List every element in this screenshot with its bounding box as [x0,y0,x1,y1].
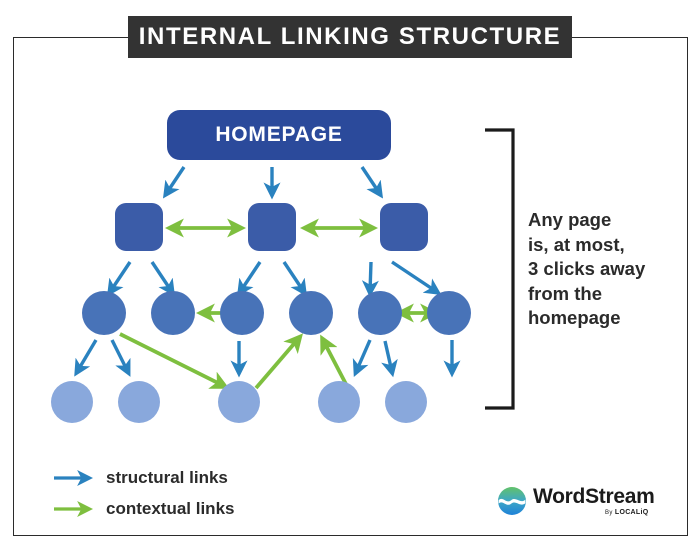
annotation-line-3: 3 clicks away [528,257,678,282]
contextual-arrows-diagonal [120,334,348,388]
legend-label-contextual: contextual links [106,499,234,519]
leaf-node-1[interactable] [51,381,93,423]
legend-label-structural: structural links [106,468,228,488]
brand-parent: By LOCALiQ [605,509,648,516]
arrow-right-icon [52,468,96,488]
legend: structural links contextual links [52,462,234,524]
annotation-line-4: from the [528,282,678,307]
category-node-3[interactable] [380,203,428,251]
subpage-node-6[interactable] [427,291,471,335]
title-banner: INTERNAL LINKING STRUCTURE [128,16,572,58]
arrow-right-icon [52,499,96,519]
structural-arrows-homepage-to-level2 [166,167,380,194]
annotation-line-5: homepage [528,306,678,331]
leaf-node-5[interactable] [385,381,427,423]
brand-name: WordStream [533,486,654,507]
subpage-node-2[interactable] [151,291,195,335]
annotation-bracket [485,130,513,408]
homepage-label: HOMEPAGE [215,123,342,147]
annotation-line-2: is, at most, [528,233,678,258]
subpage-node-5[interactable] [358,291,402,335]
subpage-node-3[interactable] [220,291,264,335]
subpage-node-4[interactable] [289,291,333,335]
legend-item-structural: structural links [52,462,234,493]
wordstream-logo-text: WordStream By LOCALiQ [533,486,654,516]
legend-item-contextual: contextual links [52,493,234,524]
annotation-line-1: Any page [528,208,678,233]
structural-arrows-level3-to-level4 [77,340,452,372]
wordstream-logo: WordStream By LOCALiQ [497,486,654,516]
leaf-node-3[interactable] [218,381,260,423]
homepage-node[interactable]: HOMEPAGE [167,110,391,160]
leaf-node-2[interactable] [118,381,160,423]
leaf-node-4[interactable] [318,381,360,423]
structural-arrows-level2-to-level3 [110,262,437,292]
annotation-text: Any page is, at most, 3 clicks away from… [528,208,678,331]
infographic-canvas: INTERNAL LINKING STRUCTURE [0,0,700,552]
category-node-1[interactable] [115,203,163,251]
brand-parent-name: LOCALiQ [615,509,649,516]
page-title: INTERNAL LINKING STRUCTURE [139,23,561,51]
wordstream-logo-icon [497,486,527,516]
brand-by: By [605,510,613,516]
category-node-2[interactable] [248,203,296,251]
subpage-node-1[interactable] [82,291,126,335]
